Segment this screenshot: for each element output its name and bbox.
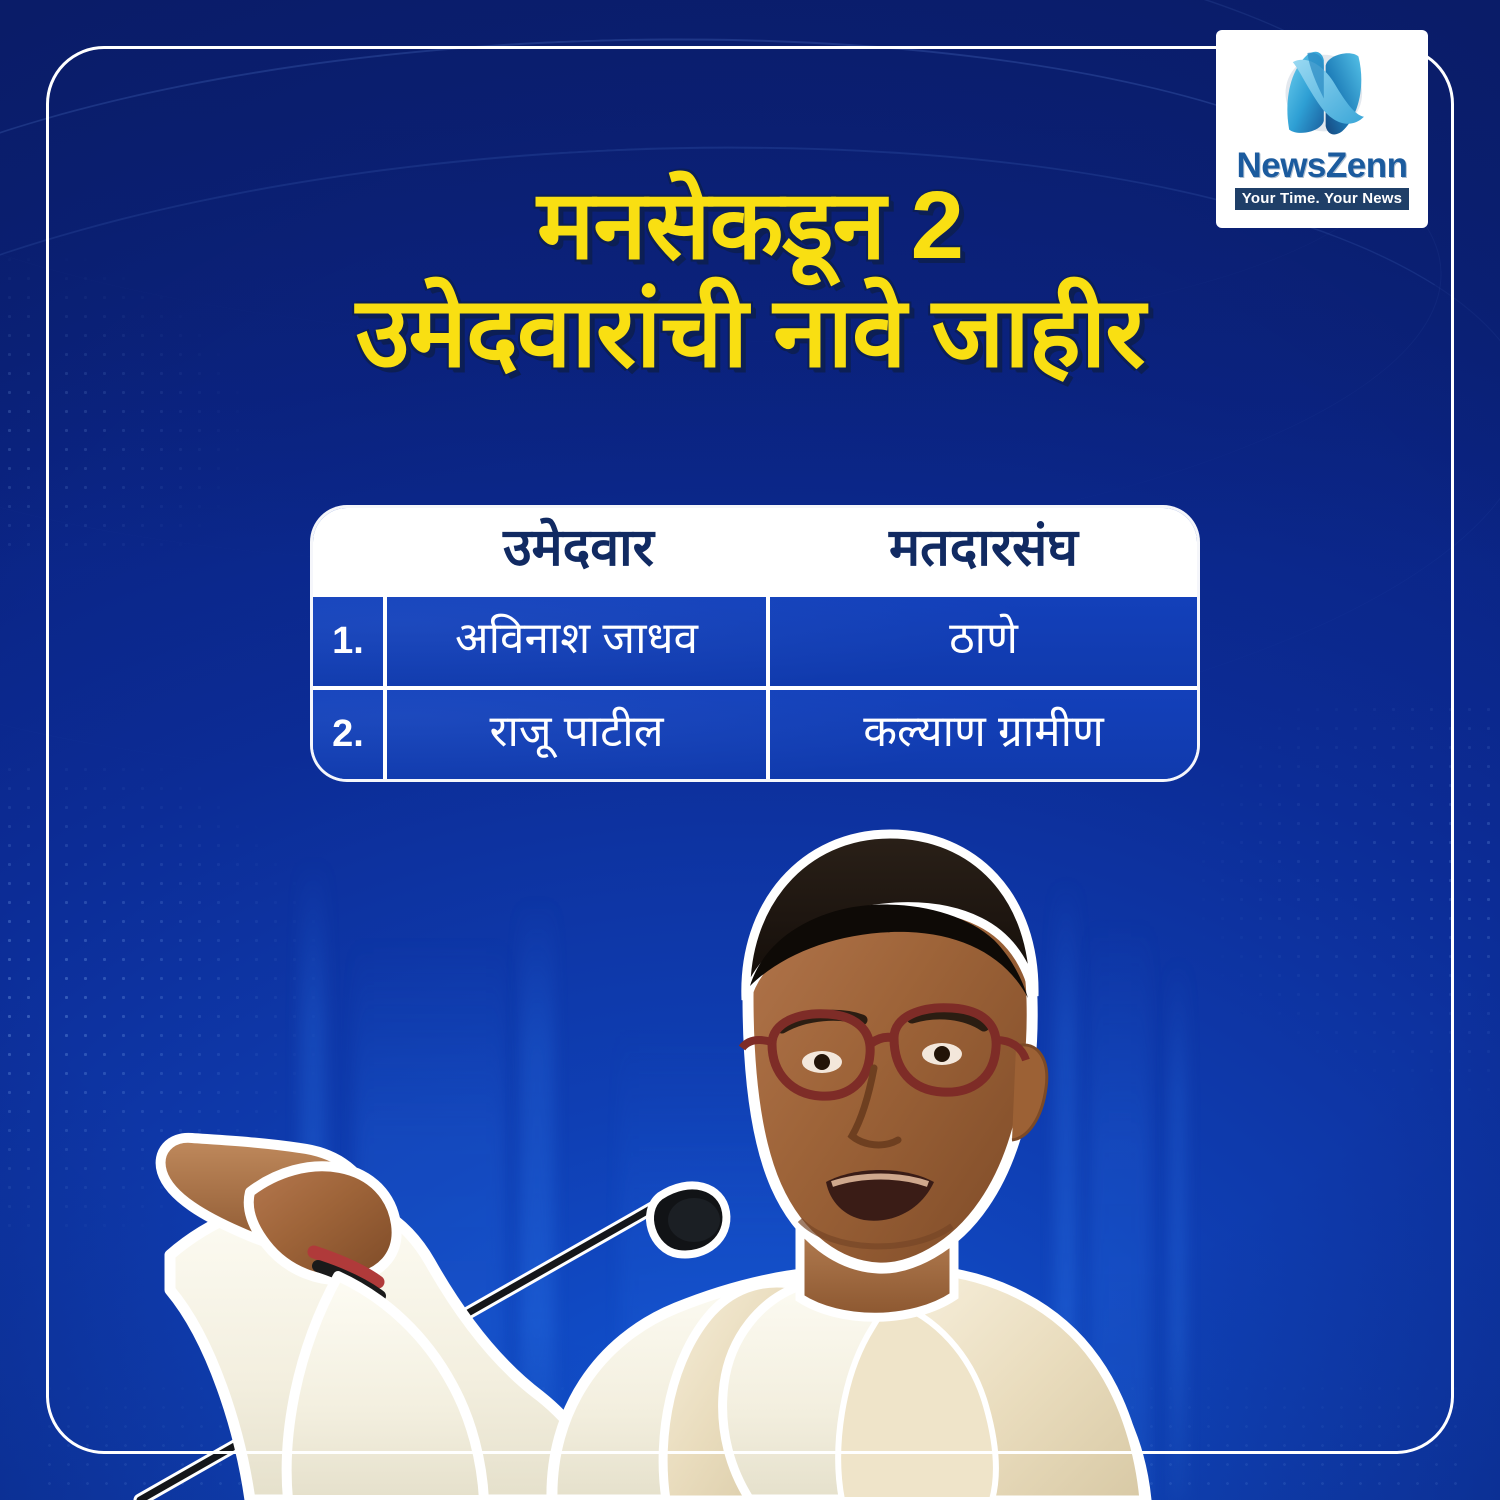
table-row: 1. अविनाश जाधव ठाणे [313,593,1197,686]
news-graphic-poster: मनसेकडून 2 उमेदवारांची नावे जाहीर उमेदवा… [0,0,1500,1500]
table-header-row: उमेदवार मतदारसंघ [313,508,1197,593]
head [742,834,1047,1268]
row-candidate-name: अविनाश जाधव [387,597,770,686]
logo-wordmark: NewsZenn [1236,148,1407,183]
row-index: 1. [313,597,387,686]
speaker-photo [100,800,1180,1500]
row-constituency: कल्याण ग्रामीण [770,690,1197,779]
row-index: 2. [313,690,387,779]
row-candidate-name: राजू पाटील [387,690,770,779]
table-row: 2. राजू पाटील कल्याण ग्रामीण [313,686,1197,779]
table-header-index [313,508,387,593]
row-constituency: ठाणे [770,597,1197,686]
logo-tagline: Your Time. Your News [1235,188,1409,210]
table-header-constituency: मतदारसंघ [770,508,1197,593]
candidates-table: उमेदवार मतदारसंघ 1. अविनाश जाधव ठाणे 2. … [313,508,1197,779]
newszenn-logo[interactable]: NewsZenn Your Time. Your News [1216,30,1428,228]
microphone [650,1185,726,1254]
table-header-candidate: उमेदवार [387,508,770,593]
newszenn-n-logomark [1267,42,1377,146]
